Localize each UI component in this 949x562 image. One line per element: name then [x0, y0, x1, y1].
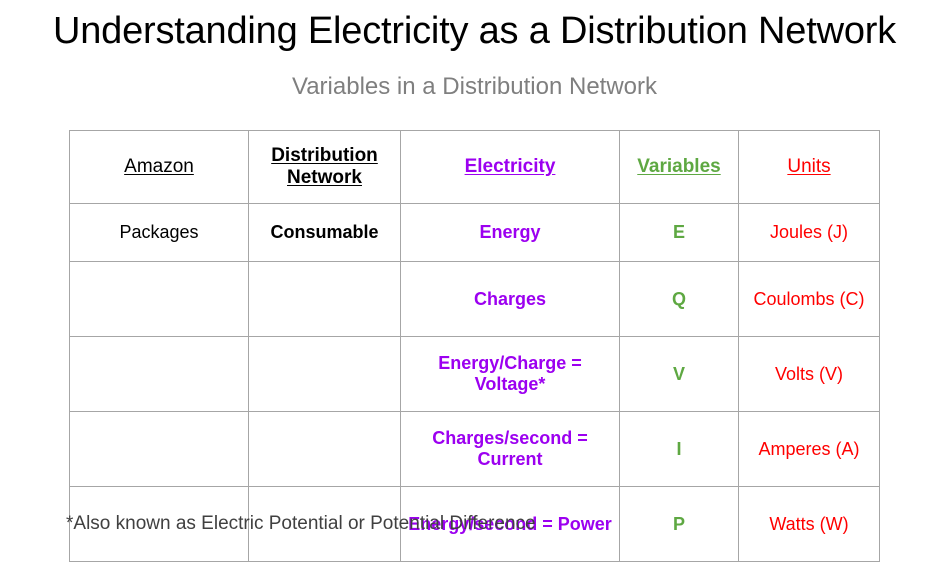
cell-variable: I: [620, 412, 739, 487]
column-header-variables: Variables: [620, 131, 739, 204]
page-title: Understanding Electricity as a Distribut…: [0, 4, 949, 58]
variables-table: Amazon Distribution Network Electricity …: [69, 130, 880, 562]
cell-electricity: Energy/Charge = Voltage*: [401, 337, 620, 412]
column-header-units: Units: [739, 131, 880, 204]
table-row: Packages Consumable Energy E Joules (J): [70, 204, 880, 262]
cell-electricity: Charges: [401, 262, 620, 337]
footnote-text: *Also known as Electric Potential or Pot…: [66, 512, 536, 536]
cell-variable: V: [620, 337, 739, 412]
cell-variable: P: [620, 487, 739, 562]
cell-network: [249, 337, 401, 412]
cell-network: Consumable: [249, 204, 401, 262]
table-row: Energy/Charge = Voltage* V Volts (V): [70, 337, 880, 412]
cell-amazon: [70, 262, 249, 337]
cell-units: Coulombs (C): [739, 262, 880, 337]
variables-table-wrapper: Amazon Distribution Network Electricity …: [69, 130, 879, 562]
page-subtitle: Variables in a Distribution Network: [0, 72, 949, 102]
cell-amazon: [70, 412, 249, 487]
table-header-row: Amazon Distribution Network Electricity …: [70, 131, 880, 204]
table-row: Charges Q Coulombs (C): [70, 262, 880, 337]
cell-variable: E: [620, 204, 739, 262]
cell-electricity: Charges/second = Current: [401, 412, 620, 487]
table-row: Charges/second = Current I Amperes (A): [70, 412, 880, 487]
cell-units: Volts (V): [739, 337, 880, 412]
cell-units: Joules (J): [739, 204, 880, 262]
slide-canvas: Understanding Electricity as a Distribut…: [0, 0, 949, 542]
column-header-amazon: Amazon: [70, 131, 249, 204]
column-header-electricity: Electricity: [401, 131, 620, 204]
cell-amazon: [70, 337, 249, 412]
cell-amazon: Packages: [70, 204, 249, 262]
column-header-network: Distribution Network: [249, 131, 401, 204]
cell-variable: Q: [620, 262, 739, 337]
cell-electricity: Energy: [401, 204, 620, 262]
cell-units: Amperes (A): [739, 412, 880, 487]
cell-units: Watts (W): [739, 487, 880, 562]
cell-network: [249, 412, 401, 487]
cell-network: [249, 262, 401, 337]
